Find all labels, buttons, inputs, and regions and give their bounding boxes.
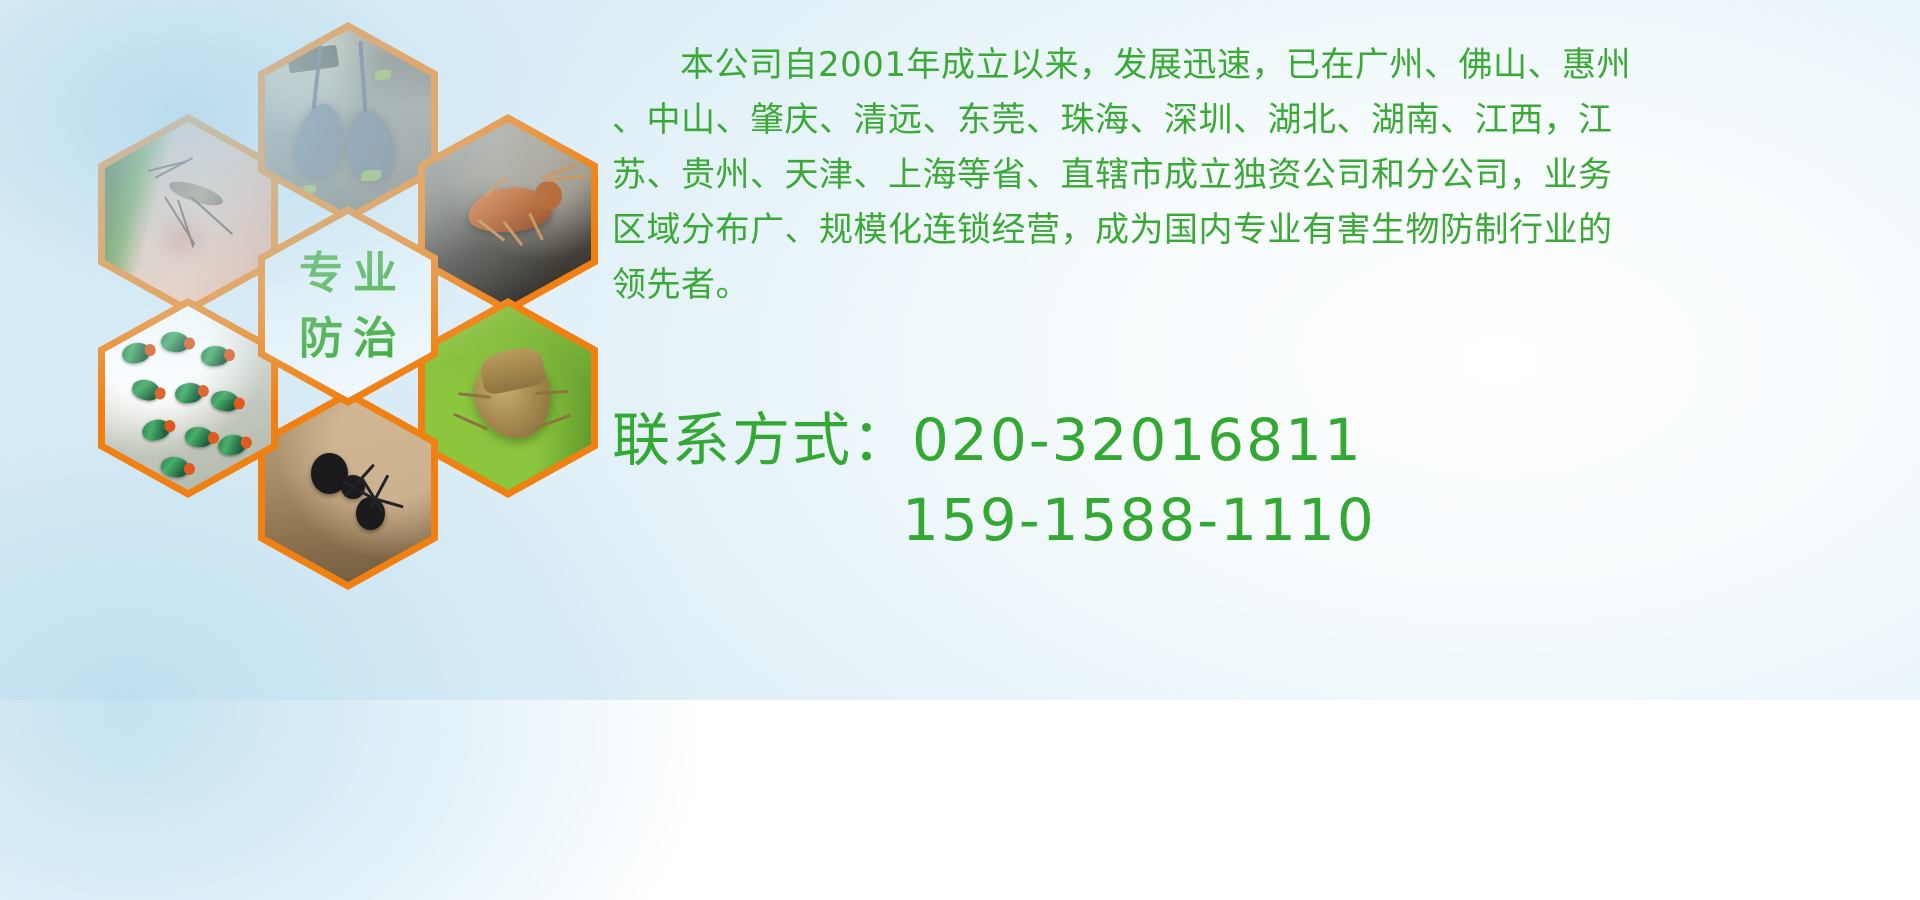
banner-root: 专业 防治 本公司自2001年成立以来，发展迅速，已在广州、佛山、惠州 、中山、… xyxy=(0,0,1920,700)
company-intro-paragraph: 本公司自2001年成立以来，发展迅速，已在广州、佛山、惠州 、中山、肇庆、清远、… xyxy=(612,38,1902,313)
stink-bug-photo xyxy=(418,298,598,498)
contact-primary-line: 联系方式：020-32016811 xyxy=(612,400,1902,480)
cockroach-photo xyxy=(418,114,598,314)
center-slogan-hexagon: 专业 防治 xyxy=(258,206,438,406)
mosquito-icon xyxy=(105,122,271,306)
cockroach-icon xyxy=(425,122,591,306)
ant-photo xyxy=(258,390,438,590)
intro-line-2: 、中山、肇庆、清远、东莞、珠海、深圳、湖北、湖南、江西，江 xyxy=(612,93,1902,148)
intro-line-5: 领先者。 xyxy=(612,258,1902,313)
slogan-line-1: 专业 xyxy=(289,249,407,298)
contact-label: 联系方式： xyxy=(612,406,912,474)
intro-line-1: 本公司自2001年成立以来，发展迅速，已在广州、佛山、惠州 xyxy=(612,38,1902,93)
fly-photo xyxy=(98,298,278,498)
intro-line-4: 区域分布广、规模化连锁经营，成为国内专业有害生物防制行业的 xyxy=(612,203,1902,258)
rat-photo xyxy=(258,22,438,222)
intro-line-3: 苏、贵州、天津、上海等省、直辖市成立独资公司和分公司，业务 xyxy=(612,148,1902,203)
fly-icon xyxy=(105,306,271,490)
rat-icon xyxy=(265,30,431,214)
ant-icon xyxy=(265,398,431,582)
contact-block: 联系方式：020-32016811 159-1588-1110 xyxy=(612,400,1902,560)
mosquito-photo xyxy=(98,114,278,314)
contact-phone-secondary[interactable]: 159-1588-1110 xyxy=(612,480,1902,560)
stink-bug-icon xyxy=(425,306,591,490)
slogan-line-2: 防治 xyxy=(289,314,407,363)
hexagon-collage: 专业 防治 xyxy=(88,8,588,548)
contact-phone-primary[interactable]: 020-32016811 xyxy=(912,406,1363,474)
